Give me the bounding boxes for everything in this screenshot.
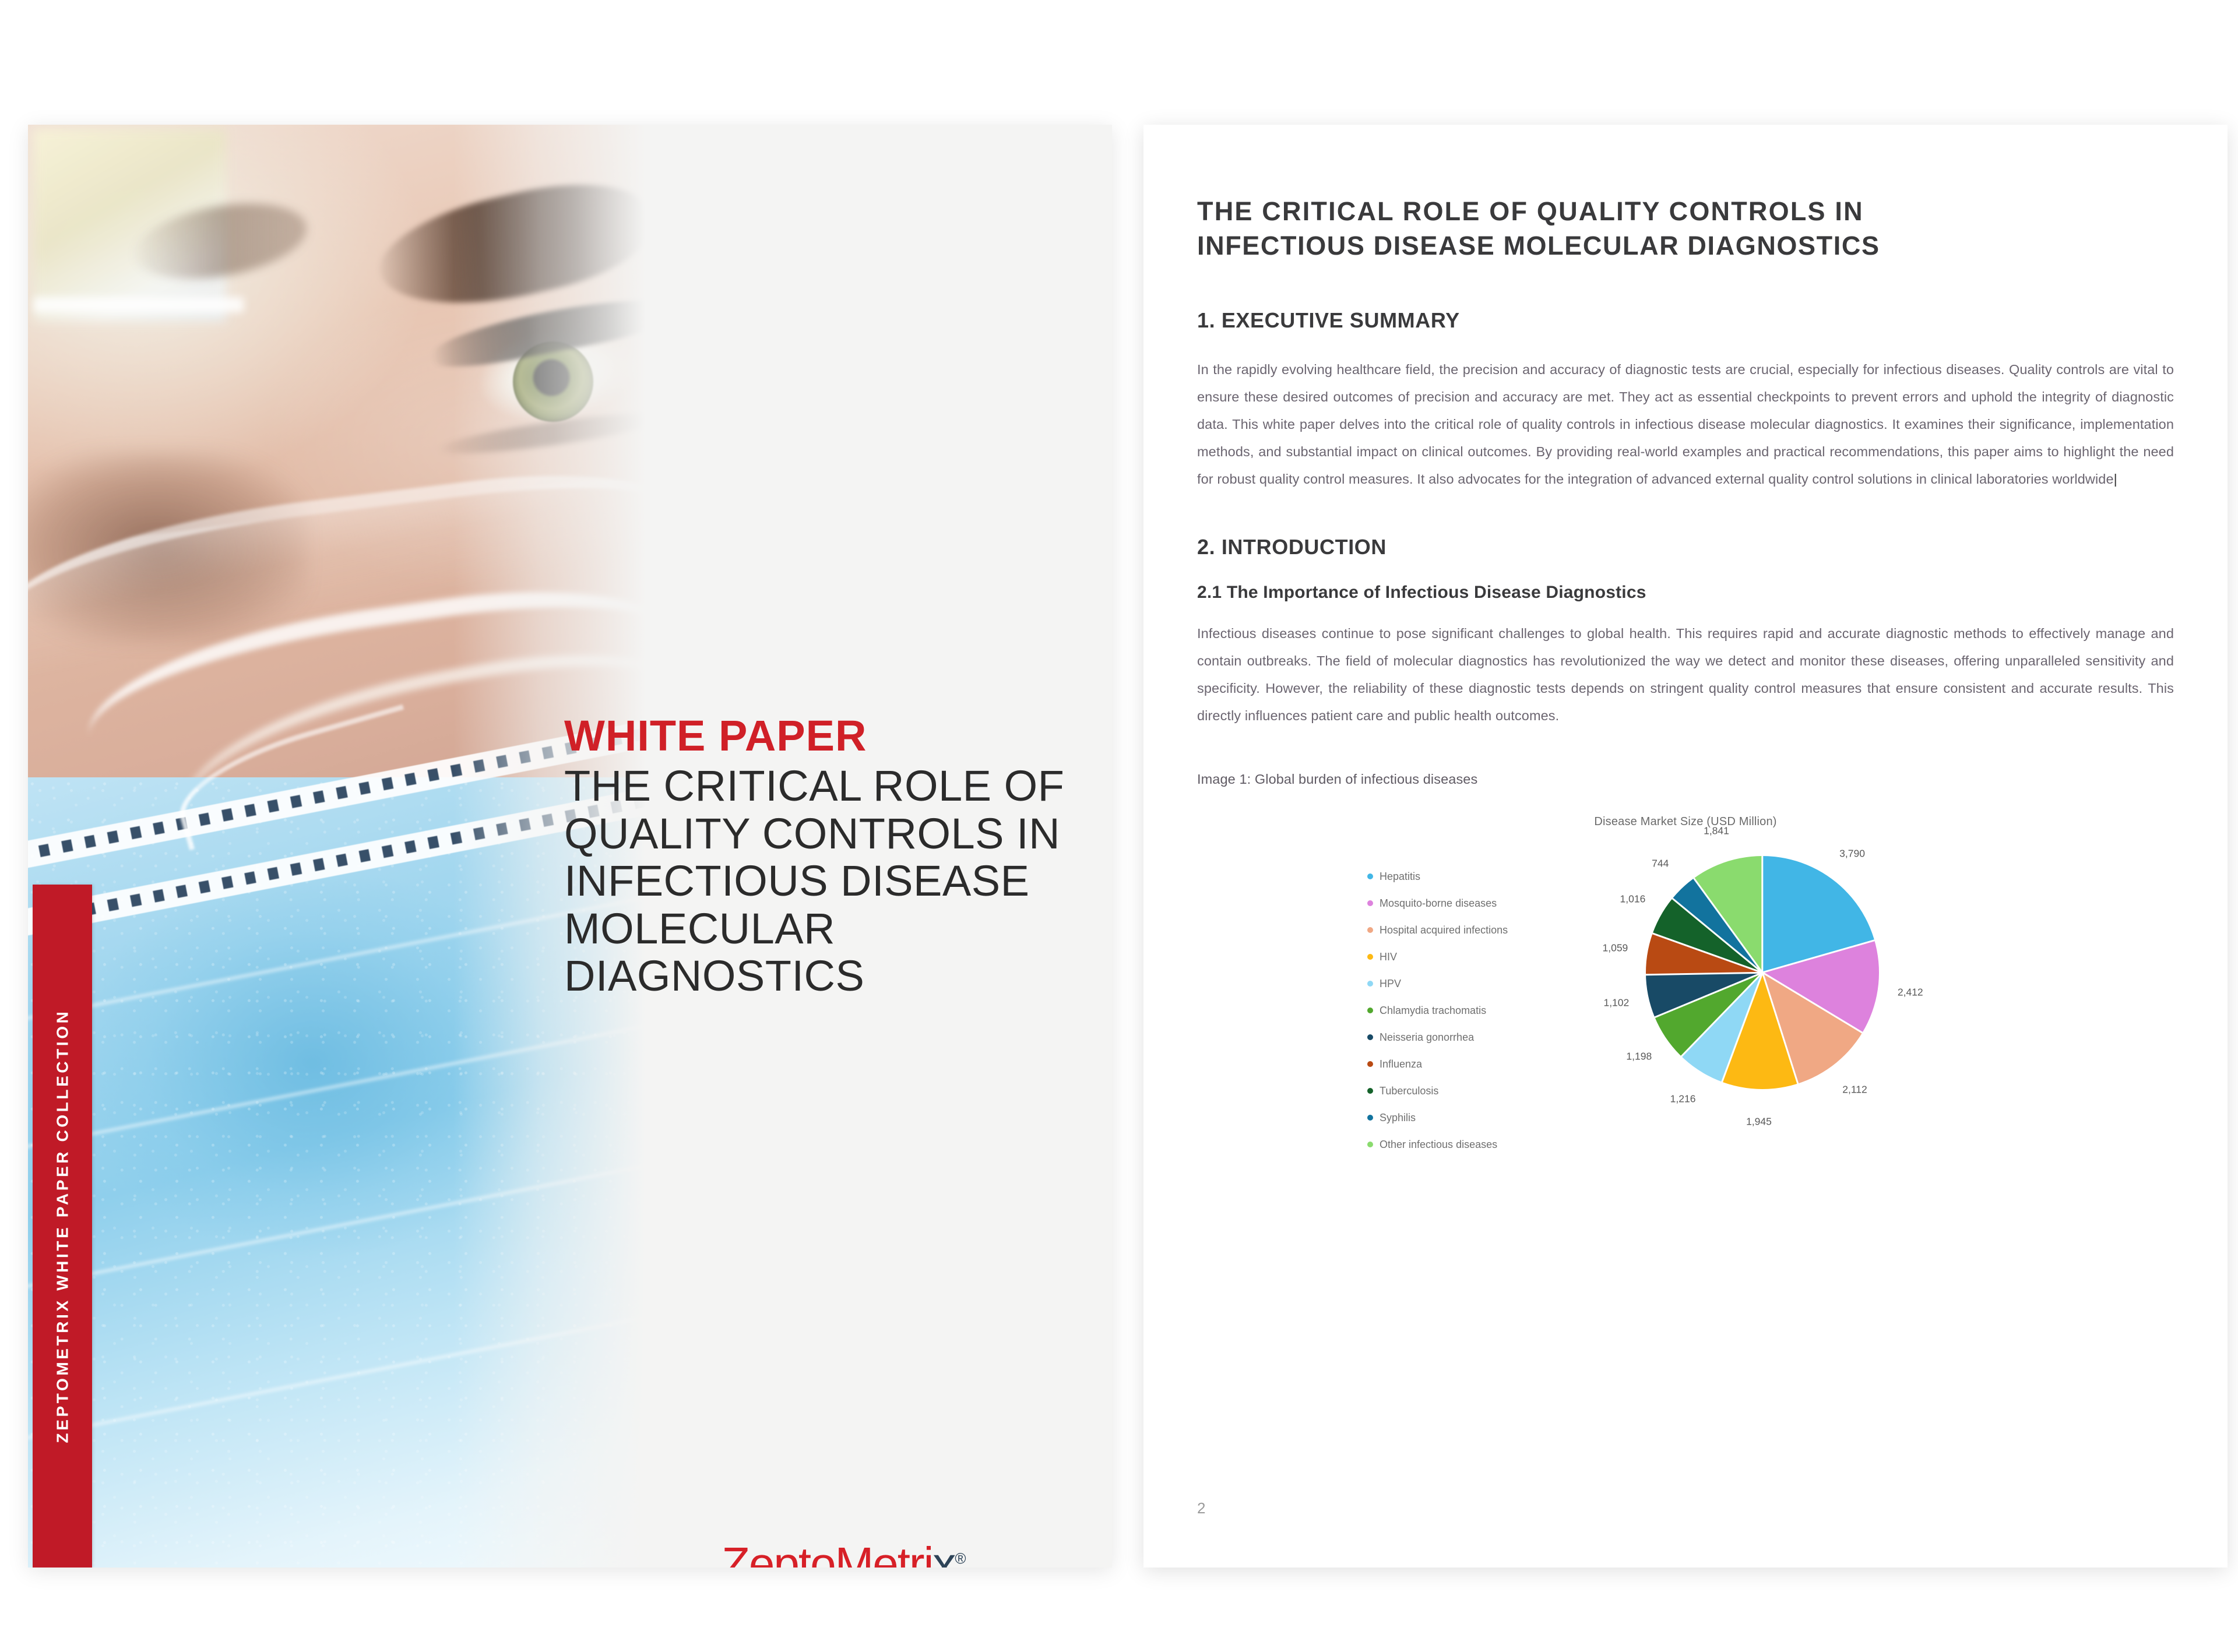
pie-value-label: 1,216: [1670, 1093, 1696, 1105]
paragraph-executive-summary: In the rapidly evolving healthcare field…: [1197, 356, 2174, 493]
pie-slice-divider: [1655, 972, 1763, 1018]
pie-value-label: 1,059: [1602, 942, 1628, 954]
cover-title: THE CRITICAL ROLE OF QUALITY CONTROLS IN…: [564, 762, 1083, 999]
paragraph-executive-summary-text: In the rapidly evolving healthcare field…: [1197, 362, 2174, 487]
legend-item-label: Chlamydia trachomatis: [1380, 1005, 1486, 1017]
legend-item-label: Hospital acquired infections: [1380, 924, 1508, 936]
chart-title: Disease Market Size (USD Million): [1197, 815, 2174, 829]
cover-page: ZEPTOMETRIX WHITE PAPER COLLECTION WHITE…: [28, 125, 1112, 1568]
legend-item: Syphilis: [1367, 1104, 1560, 1131]
chart-legend: HepatitisMosquito-borne diseasesHospital…: [1367, 863, 1560, 1158]
legend-item-label: Tuberculosis: [1380, 1085, 1438, 1097]
legend-item: Hospital acquired infections: [1367, 917, 1560, 943]
heading-executive-summary: 1. EXECUTIVE SUMMARY: [1197, 308, 2174, 333]
content-page: THE CRITICAL ROLE OF QUALITY CONTROLS IN…: [1143, 125, 2228, 1568]
legend-color-swatch-icon: [1367, 954, 1373, 960]
page-title-line-1: THE CRITICAL ROLE OF QUALITY CONTROLS IN: [1197, 196, 1864, 226]
legend-item-label: Syphilis: [1380, 1112, 1416, 1124]
pie-value-label: 2,412: [1898, 986, 1923, 998]
figure-caption: Image 1: Global burden of infectious dis…: [1197, 772, 2174, 787]
photo-window-sill: [34, 297, 244, 312]
pie-value-label: 1,016: [1620, 893, 1646, 905]
white-paper-spread: ZEPTOMETRIX WHITE PAPER COLLECTION WHITE…: [0, 0, 2238, 1652]
legend-color-swatch-icon: [1367, 927, 1373, 933]
pie-slice-divider: [1762, 940, 1875, 974]
legend-item-label: Mosquito-borne diseases: [1380, 897, 1497, 910]
legend-color-swatch-icon: [1367, 981, 1373, 987]
pie-plot-area: 3,7902,4122,1121,9451,2161,1981,1021,059…: [1582, 835, 1943, 1196]
page-title: THE CRITICAL ROLE OF QUALITY CONTROLS IN…: [1197, 195, 2174, 263]
paragraph-introduction: Infectious diseases continue to pose sig…: [1197, 620, 2174, 730]
pie-slice-divider: [1646, 972, 1762, 975]
legend-item: Tuberculosis: [1367, 1077, 1560, 1104]
pie-value-label: 1,102: [1603, 997, 1629, 1009]
legend-item: Hepatitis: [1367, 863, 1560, 890]
pie-value-label: 1,198: [1626, 1050, 1652, 1062]
heading-introduction: 2. INTRODUCTION: [1197, 535, 2174, 559]
legend-color-swatch-icon: [1367, 1088, 1373, 1094]
cover-title-block: WHITE PAPER THE CRITICAL ROLE OF QUALITY…: [564, 713, 1083, 999]
pie-slice-divider: [1672, 898, 1763, 973]
legend-item: Influenza: [1367, 1051, 1560, 1077]
pie-value-label: 744: [1652, 858, 1669, 870]
legend-item-label: HPV: [1380, 978, 1401, 990]
legend-item-label: Other infectious diseases: [1380, 1139, 1497, 1151]
pie-value-label: 3,790: [1839, 847, 1865, 860]
legend-item: Neisseria gonorrhea: [1367, 1024, 1560, 1051]
subheading-importance: 2.1 The Importance of Infectious Disease…: [1197, 583, 2174, 603]
pie-slice-divider: [1762, 972, 1863, 1034]
pie-slice-divider: [1681, 972, 1763, 1056]
pie-slice-divider: [1762, 856, 1764, 973]
pie-value-label: 1,841: [1704, 825, 1729, 837]
pie-slice-separators: [1646, 856, 1879, 1089]
pie-slice-divider: [1652, 932, 1762, 973]
legend-item: HPV: [1367, 970, 1560, 997]
legend-color-swatch-icon: [1367, 1061, 1373, 1067]
page-title-line-2: INFECTIOUS DISEASE MOLECULAR DIAGNOSTICS: [1197, 229, 2174, 263]
legend-item: HIV: [1367, 943, 1560, 970]
spacer: [1197, 493, 2174, 535]
legend-color-swatch-icon: [1367, 1008, 1373, 1013]
text-cursor: |: [2114, 471, 2117, 487]
cover-ribbon-label: ZEPTOMETRIX WHITE PAPER COLLECTION: [53, 1009, 72, 1443]
zeptometrix-logo: ZeptoMetrix® an antylia scientific compa…: [722, 1541, 1083, 1568]
pie-slice-divider: [1762, 973, 1799, 1084]
legend-color-swatch-icon: [1367, 900, 1373, 906]
page-number: 2: [1197, 1499, 1205, 1517]
legend-item: Mosquito-borne diseases: [1367, 890, 1560, 917]
pie-graphic: [1646, 856, 1879, 1089]
logo-registered-mark: ®: [955, 1549, 965, 1567]
pie-value-label: 2,112: [1842, 1083, 1867, 1096]
legend-color-swatch-icon: [1367, 1142, 1373, 1147]
legend-item-label: Influenza: [1380, 1058, 1422, 1070]
content-body: THE CRITICAL ROLE OF QUALITY CONTROLS IN…: [1197, 195, 2174, 1215]
logo-x-glyph: x: [932, 1538, 955, 1568]
spacer: [1197, 730, 2174, 772]
legend-item: Chlamydia trachomatis: [1367, 997, 1560, 1024]
legend-item-label: HIV: [1380, 951, 1397, 963]
cover-ribbon: ZEPTOMETRIX WHITE PAPER COLLECTION: [33, 885, 92, 1568]
cover-kicker: WHITE PAPER: [564, 713, 1083, 759]
pie-chart-figure: Disease Market Size (USD Million) Hepati…: [1197, 813, 2174, 1215]
legend-color-swatch-icon: [1367, 873, 1373, 879]
pie-slice-divider: [1694, 878, 1764, 973]
legend-item: Other infectious diseases: [1367, 1131, 1560, 1158]
legend-color-swatch-icon: [1367, 1115, 1373, 1121]
pie-value-label: 1,945: [1746, 1115, 1772, 1128]
legend-color-swatch-icon: [1367, 1034, 1373, 1040]
legend-item-label: Neisseria gonorrhea: [1380, 1031, 1474, 1044]
pie-slice-divider: [1721, 973, 1763, 1082]
logo-wordmark: ZeptoMetrix®: [722, 1541, 1083, 1568]
cover-photo: [28, 125, 646, 1568]
logo-wordmark-text: ZeptoMetri: [722, 1538, 932, 1568]
legend-item-label: Hepatitis: [1380, 871, 1420, 883]
